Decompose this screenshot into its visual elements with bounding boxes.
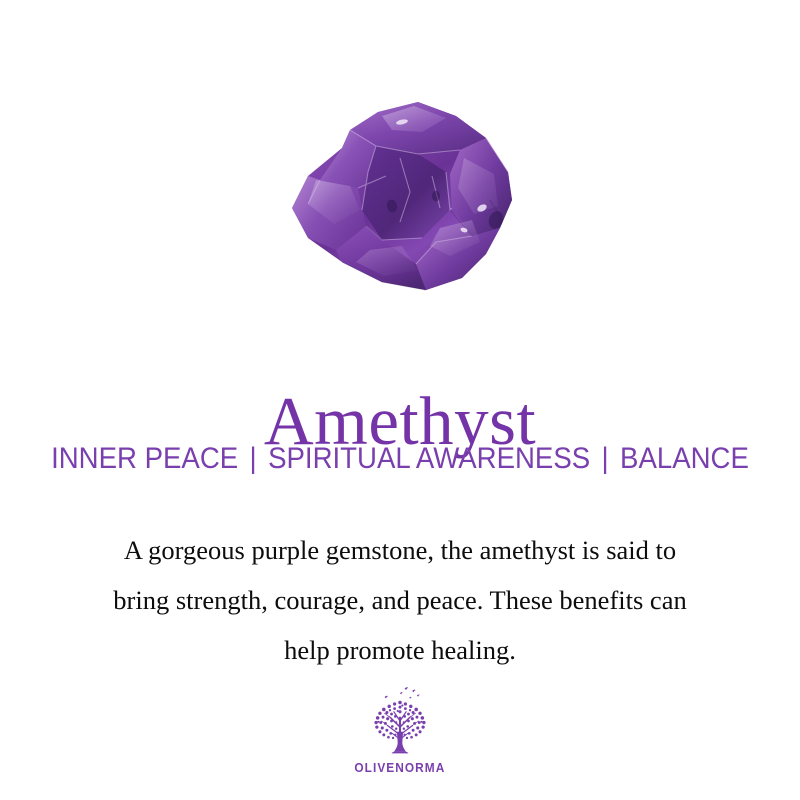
amethyst-info-card: Amethyst INNER PEACE | SPIRITUAL AWARENE… xyxy=(0,0,800,800)
description-line-2: bring strength, courage, and peace. Thes… xyxy=(50,575,750,625)
description-line-3: help promote healing. xyxy=(50,625,750,675)
description-text: A gorgeous purple gemstone, the amethyst… xyxy=(50,525,750,675)
keyword-separator-2: | xyxy=(598,441,613,477)
keyword-balance: BALANCE xyxy=(620,442,749,475)
brand-name: OLIVENORMA xyxy=(355,761,446,775)
tree-birds xyxy=(385,687,420,699)
tree-roots xyxy=(392,752,409,754)
tree-of-life-icon xyxy=(361,684,439,758)
description-line-1: A gorgeous purple gemstone, the amethyst… xyxy=(50,525,750,575)
amethyst-crystal-image xyxy=(250,80,555,295)
keyword-inner-peace: INNER PEACE xyxy=(51,442,238,475)
keyword-list: INNER PEACE | SPIRITUAL AWARENESS | BALA… xyxy=(32,441,768,477)
brand-logo: OLIVENORMA xyxy=(0,684,800,775)
keyword-separator-1: | xyxy=(246,441,261,477)
keyword-spiritual-awareness: SPIRITUAL AWARENESS xyxy=(268,442,590,475)
amethyst-crystal-illustration xyxy=(250,80,555,295)
